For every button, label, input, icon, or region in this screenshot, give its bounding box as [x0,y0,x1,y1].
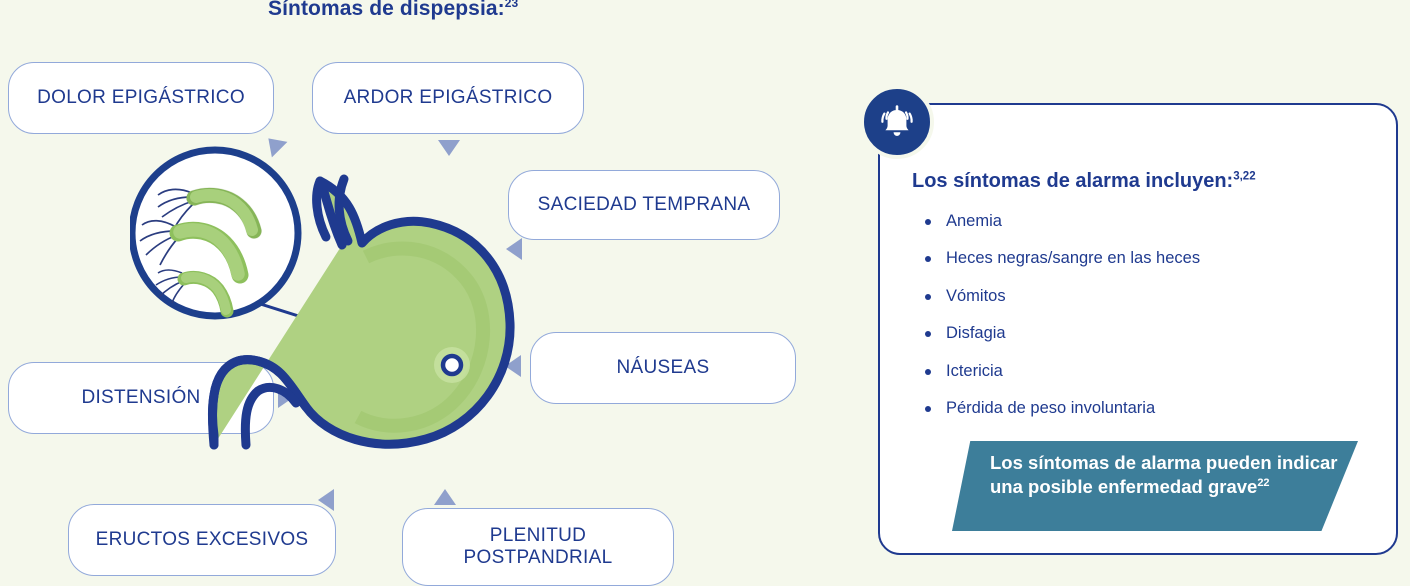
symptom-label-line2: POSTPANDRIAL [464,547,613,568]
alarm-panel-heading: Los síntomas de alarma incluyen:3,22 [912,170,1256,193]
page-title-text: Síntomas de dispepsia: [268,0,505,20]
alarm-callout-banner: Los síntomas de alarma pueden indicar un… [952,441,1358,531]
list-item: Vómitos [916,287,1376,306]
bell-icon [860,85,934,159]
bell-icon-glyph [876,101,918,143]
alarm-panel-heading-superscript: 3,22 [1233,170,1255,182]
pointer-arrow-plenitud-postpandrial [434,489,456,505]
pointer-arrow-eructos-excesivos [318,489,334,511]
symptom-pill-nauseas[interactable]: NÁUSEAS [530,332,796,404]
symptom-pill-dolor-epigastrico[interactable]: DOLOR EPIGÁSTRICO [8,62,274,134]
page-title: Síntomas de dispepsia:23 [268,0,518,21]
alarm-callout-line1: Los síntomas de alarma pueden [990,452,1272,473]
symptom-pill-ardor-epigastrico[interactable]: ARDOR EPIGÁSTRICO [312,62,584,134]
infographic-canvas: Síntomas de dispepsia:23 DOLOR EPIGÁSTRI… [0,0,1410,586]
alarm-callout-line3: grave [1208,476,1257,497]
list-item: Disfagia [916,324,1376,343]
page-title-superscript: 23 [505,0,519,10]
magnifier-circle [132,150,298,316]
symptom-label: PLENITUD POSTPANDRIAL [464,525,613,570]
list-item: Anemia [916,212,1376,231]
symptom-pill-eructos-excesivos[interactable]: ERUCTOS EXCESIVOS [68,504,336,576]
stomach-illustration [130,145,550,455]
infection-marker [434,347,470,383]
alarm-panel-heading-text: Los síntomas de alarma incluyen: [912,170,1233,192]
symptom-label-line1: PLENITUD [490,525,586,546]
alarm-callout-text: Los síntomas de alarma pueden indicar un… [990,451,1340,498]
symptom-label: SACIEDAD TEMPRANA [538,194,751,216]
symptom-label: ARDOR EPIGÁSTRICO [344,87,553,109]
list-item: Ictericia [916,362,1376,381]
list-item: Heces negras/sangre en las heces [916,249,1376,268]
alarm-symptoms-list: Anemia Heces negras/sangre en las heces … [916,212,1376,437]
alarm-callout-superscript: 22 [1257,477,1269,489]
symptom-label: ERUCTOS EXCESIVOS [96,529,309,551]
symptom-label: NÁUSEAS [617,357,710,379]
symptom-label: DOLOR EPIGÁSTRICO [37,87,245,109]
duodenum-inner-wall [245,387,296,445]
list-item: Pérdida de peso involuntaria [916,399,1376,418]
symptom-pill-plenitud-postpandrial[interactable]: PLENITUD POSTPANDRIAL [402,508,674,586]
